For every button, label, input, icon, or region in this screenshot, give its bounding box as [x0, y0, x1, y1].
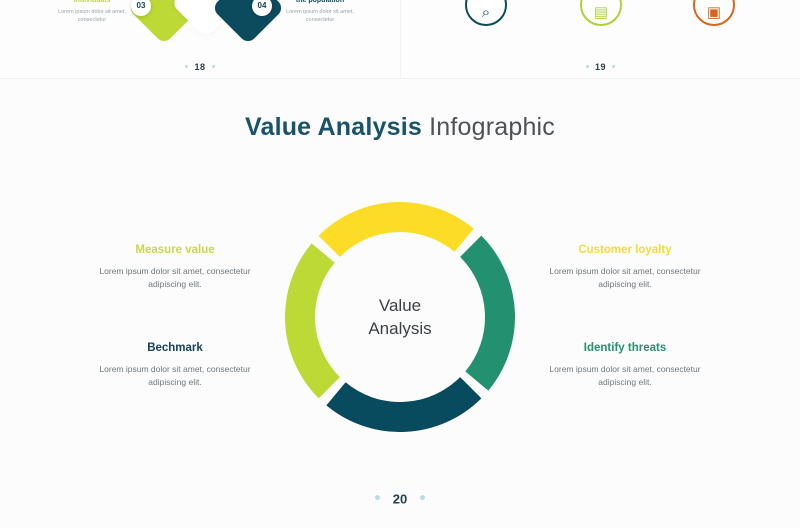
thumb-page-number: 18: [194, 62, 205, 72]
label-identify-threats-title: Identify threats: [535, 341, 715, 356]
pager-dot-left-icon[interactable]: [375, 495, 380, 500]
donut-center-label: Value Analysis: [285, 202, 515, 432]
icon-circle-chart-document: ▤: [580, 0, 622, 26]
thumbnail-pager-18: 18: [0, 62, 400, 72]
thumb-text-block-left: individuals Lorem ipsum dolor sit amet, …: [44, 0, 140, 24]
page-title: Value Analysis Infographic: [0, 112, 800, 142]
pager-dot-left-icon: [586, 65, 589, 68]
label-bechmark: Bechmark Lorem ipsum dolor sit amet, con…: [85, 341, 265, 388]
thumbnail-pager-19: 19: [401, 62, 800, 72]
slide-canvas-20: Value Analysis Infographic Value Analysi…: [0, 79, 800, 528]
donut-center-line2: Analysis: [368, 317, 431, 340]
chart-document-icon: ▤: [582, 5, 620, 20]
slide-thumbnail-18[interactable]: 03 04 individuals Lorem ipsum dolor sit …: [0, 0, 401, 78]
label-measure-value: Measure value Lorem ipsum dolor sit amet…: [85, 243, 265, 290]
icon-circle-magnifier: ⌕: [465, 0, 507, 26]
magnifier-icon: ⌕: [467, 5, 505, 20]
label-measure-value-body: Lorem ipsum dolor sit amet, consectetur …: [85, 265, 265, 290]
label-customer-loyalty-body: Lorem ipsum dolor sit amet, consectetur …: [535, 265, 715, 290]
slide-thumbnail-19[interactable]: ⌕ ▤ ▣ adipiscing elit. adipiscing elit. …: [401, 0, 800, 78]
thumb-text-block-right: the population Lorem ipsum dolor sit ame…: [272, 0, 368, 24]
thumb-icon-caption-2: adipiscing elit.: [636, 0, 706, 2]
page-title-light: Infographic: [429, 113, 555, 141]
thumb-right-body: Lorem ipsum dolor sit amet, consectetur: [272, 8, 368, 24]
page-title-strong: Value Analysis: [245, 113, 422, 141]
donut-center-line1: Value: [379, 294, 421, 317]
label-bechmark-body: Lorem ipsum dolor sit amet, consectetur …: [85, 363, 265, 388]
thumb-left-title: individuals: [44, 0, 140, 5]
thumb-left-body: Lorem ipsum dolor sit amet, consectetur: [44, 8, 140, 24]
monitor-chart-icon: ▣: [695, 5, 733, 20]
label-customer-loyalty-title: Customer loyalty: [535, 243, 715, 258]
icon-circle-monitor: ▣: [693, 0, 735, 26]
label-identify-threats: Identify threats Lorem ipsum dolor sit a…: [535, 341, 715, 388]
slide-page-number: 20: [393, 491, 407, 506]
label-measure-value-title: Measure value: [85, 243, 265, 258]
label-identify-threats-body: Lorem ipsum dolor sit amet, consectetur …: [535, 363, 715, 388]
thumb-right-title: the population: [272, 0, 368, 5]
pager-dot-right-icon[interactable]: [420, 495, 425, 500]
thumb-icon-caption-1: adipiscing elit.: [521, 0, 591, 2]
label-customer-loyalty: Customer loyalty Lorem ipsum dolor sit a…: [535, 243, 715, 290]
slide-filmstrip: 03 04 individuals Lorem ipsum dolor sit …: [0, 0, 800, 79]
slide-pager: 20: [0, 490, 800, 508]
pager-dot-right-icon: [612, 65, 615, 68]
thumb-page-number: 19: [595, 62, 606, 72]
pager-dot-left-icon: [185, 65, 188, 68]
label-bechmark-title: Bechmark: [85, 341, 265, 356]
pager-dot-right-icon: [212, 65, 215, 68]
donut-chart: Value Analysis: [285, 202, 515, 432]
